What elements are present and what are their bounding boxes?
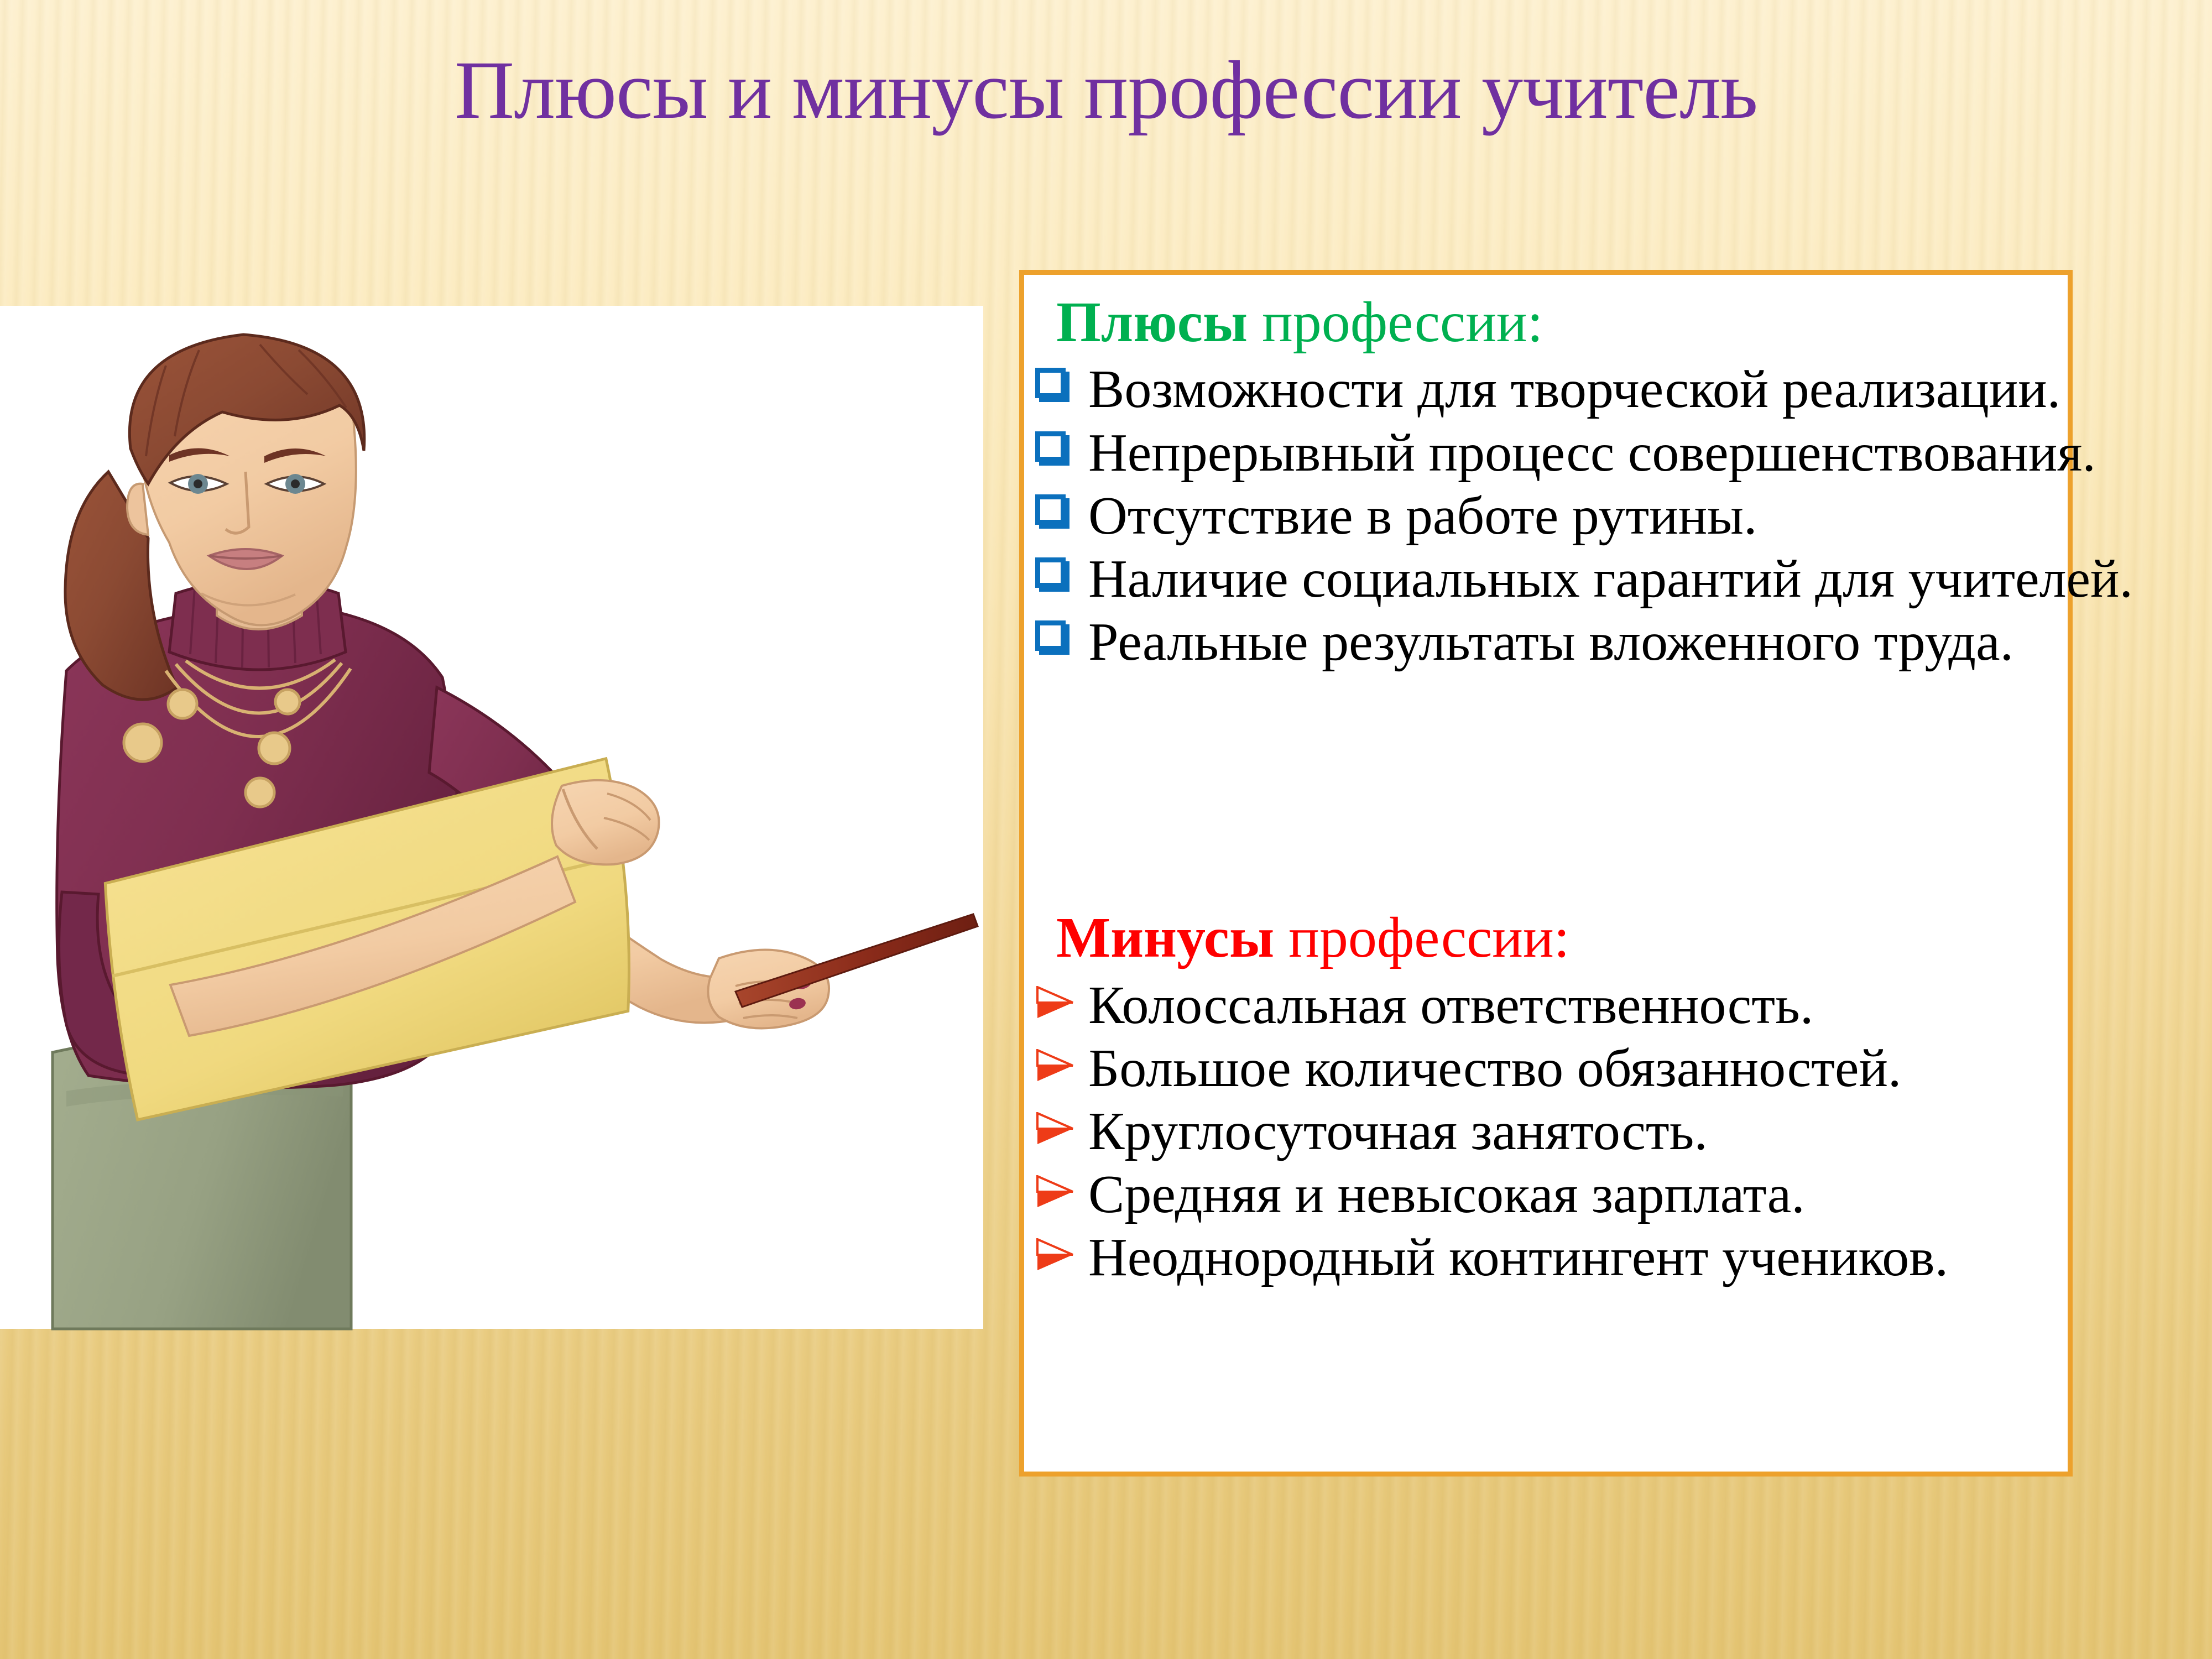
left-hand xyxy=(552,780,659,864)
page-title: Плюсы и минусы профессии учитель xyxy=(0,49,2212,132)
pros-item-text: Отсутствие в работе рутины. xyxy=(1088,484,1757,547)
list-item: Реальные результаты вложенного труда. xyxy=(1035,611,2068,674)
cons-heading-rest: профессии: xyxy=(1274,906,1569,969)
red-arrow-bullet-icon xyxy=(1035,1037,1088,1083)
content-box: Плюсы профессии: Возможности для творчес… xyxy=(1019,270,2073,1477)
pros-item-text: Наличие социальных гарантий для учителей… xyxy=(1088,547,2133,611)
red-arrow-bullet-icon xyxy=(1035,1163,1088,1209)
slide-root: Плюсы и минусы профессии учитель xyxy=(0,0,2212,1659)
pros-item-text: Реальные результаты вложенного труда. xyxy=(1088,611,2013,674)
blue-square-bullet-icon xyxy=(1035,484,1088,529)
list-item: Колоссальная ответственность. xyxy=(1035,974,2068,1037)
cons-item-text: Круглосуточная занятость. xyxy=(1088,1100,1708,1163)
list-item: Большое количество обязанностей. xyxy=(1035,1037,2068,1100)
red-arrow-bullet-icon xyxy=(1035,1226,1088,1272)
red-arrow-bullet-icon xyxy=(1035,974,1088,1020)
cons-list: Колоссальная ответственность. Большое ко… xyxy=(1035,974,2068,1290)
list-item: Отсутствие в работе рутины. xyxy=(1035,484,2068,547)
necklace-bead xyxy=(246,778,274,807)
list-item: Наличие социальных гарантий для учителей… xyxy=(1035,547,2068,611)
pros-item-text: Непрерывный процесс совершенствования. xyxy=(1088,421,2096,484)
cons-item-text: Неоднородный контингент учеников. xyxy=(1088,1226,1948,1289)
list-item: Средняя и невысокая зарплата. xyxy=(1035,1163,2068,1226)
pros-heading-rest: профессии: xyxy=(1248,290,1543,354)
pros-heading-emph: Плюсы xyxy=(1056,290,1248,354)
list-item: Возможности для творческой реализации. xyxy=(1035,358,2068,421)
blue-square-bullet-icon xyxy=(1035,421,1088,466)
section-spacer xyxy=(1035,674,2068,906)
blue-square-bullet-icon xyxy=(1035,547,1088,592)
pros-item-text: Возможности для творческой реализации. xyxy=(1088,358,2060,421)
red-arrow-bullet-icon xyxy=(1035,1100,1088,1146)
blue-square-bullet-icon xyxy=(1035,358,1088,402)
necklace-bead xyxy=(168,690,197,718)
necklace-bead xyxy=(259,733,290,764)
necklace-bead xyxy=(275,690,300,714)
list-item: Круглосуточная занятость. xyxy=(1035,1100,2068,1163)
necklace-bead xyxy=(124,724,161,761)
cons-item-text: Колоссальная ответственность. xyxy=(1088,974,1813,1037)
teacher-with-pointer-illustration xyxy=(0,306,983,1329)
cons-heading-emph: Минусы xyxy=(1056,906,1274,969)
blue-square-bullet-icon xyxy=(1035,611,1088,655)
illustration-panel xyxy=(0,306,983,1329)
cons-item-text: Большое количество обязанностей. xyxy=(1088,1037,1901,1100)
list-item: Неоднородный контингент учеников. xyxy=(1035,1226,2068,1289)
pros-list: Возможности для творческой реализации. Н… xyxy=(1035,358,2068,674)
pros-heading: Плюсы профессии: xyxy=(1056,290,2068,354)
list-item: Непрерывный процесс совершенствования. xyxy=(1035,421,2068,484)
cons-item-text: Средняя и невысокая зарплата. xyxy=(1088,1163,1805,1226)
cons-heading: Минусы профессии: xyxy=(1056,906,2068,970)
